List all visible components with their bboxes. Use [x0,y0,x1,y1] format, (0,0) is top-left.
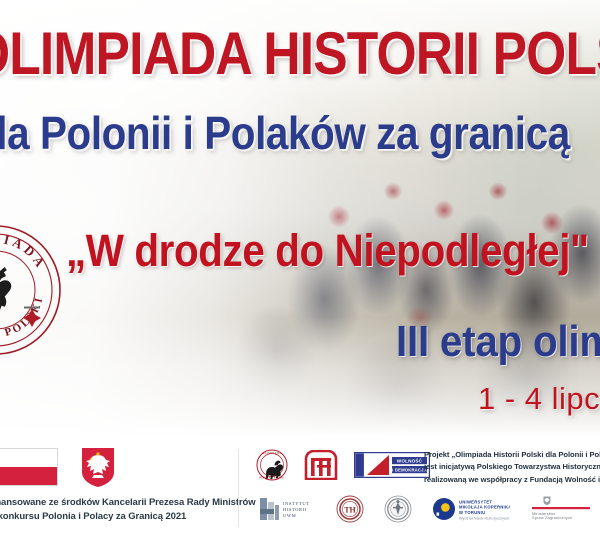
svg-text:Spraw Zagranicznych: Spraw Zagranicznych [532,516,572,520]
credit-line-2: jest inicjatywą Polskiego Towarzystwa Hi… [424,461,600,473]
umk-torun-logo-icon: UNIWERSYTET MIKOŁAJA KOPERNIKA W TORUNIU… [432,496,510,522]
headline-block: OLIMPIADA HISTORII POLSKI dla Polonii i … [0,0,600,437]
kprm-funding-block: Zadanie finansowane ze środków Kancelari… [0,445,220,524]
poster-title-subtitle: dla Polonii i Polaków za granicą [0,110,570,156]
footer-bar: Zadanie finansowane ze środków Kancelari… [0,437,600,540]
poster-date: 1 - 4 lipca 2021 [478,383,600,414]
footer-divider [238,449,239,527]
credit-line-3: realizowaną we współpracy z Fundacją Wol… [424,474,600,486]
project-credit-text: Projekt „Olimpiada Historii Polski dla P… [424,449,600,486]
organiser-logo-row-bottom: INSTYTUT HISTORII UWM TH [258,495,592,523]
kprm-marks-row [0,445,220,489]
ministerstwo-spraw-zagranicznych-logo-icon: Ministerstwo Spraw Zagranicznych [530,495,592,523]
poster-title-main: OLIMPIADA HISTORII POLSKI [0,24,600,84]
instytut-historii-uwm-logo-icon: INSTYTUT HISTORII UWM [258,496,316,522]
svg-text:HISTORII: HISTORII [283,507,307,512]
polish-flag-icon [0,448,58,486]
poster-canvas: OLIMPIADA HISTORII POLSKI OLIMPIADA HIST… [0,0,600,540]
credit-line-1: Projekt „Olimpiada Historii Polski dla P… [424,449,600,461]
svg-text:W TORUNIU: W TORUNIU [459,510,485,515]
kprm-funding-caption: Zadanie finansowane ze środków Kancelari… [0,496,220,524]
svg-text:UWM: UWM [283,513,296,518]
svg-text:HISTORII POLSKI: HISTORII POLSKI [259,476,284,479]
svg-text:TH: TH [344,506,356,515]
svg-text:I DEMOKRACJA: I DEMOKRACJA [392,468,427,473]
towarzystwo-historyczne-seal-icon: TH [336,495,364,523]
polish-crest-icon [80,446,116,488]
poster-stage-label: III etap olimpiady [396,320,600,364]
kprm-caption-line-1: Zadanie finansowane ze środków Kancelari… [0,496,220,510]
poster-motto: „W drodze do Niepodległej" [66,228,589,273]
organiser-logo-row-top: OLIMPIADA HISTORII POLSKI FUNDACJA [256,449,430,481]
svg-text:Wydział Nauk Historycznych: Wydział Nauk Historycznych [459,516,510,520]
svg-text:WOLNOŚĆ: WOLNOŚĆ [397,457,423,464]
svg-text:OLIMPIADA: OLIMPIADA [262,451,282,455]
pth-logo-icon [304,450,338,480]
olimpiada-historii-polski-seal-icon: OLIMPIADA HISTORII POLSKI [256,449,288,481]
kprm-caption-line-2: w ramach konkursu Polonia i Polacy za Gr… [0,510,220,524]
svg-text:FUNDACJA: FUNDACJA [365,454,369,476]
svg-text:INSTYTUT: INSTYTUT [283,501,309,506]
wolnosc-i-demokracja-logo-icon: FUNDACJA WOLNOŚĆ I DEMOKRACJA [354,452,430,478]
uniwersytet-seal-icon [384,495,412,523]
